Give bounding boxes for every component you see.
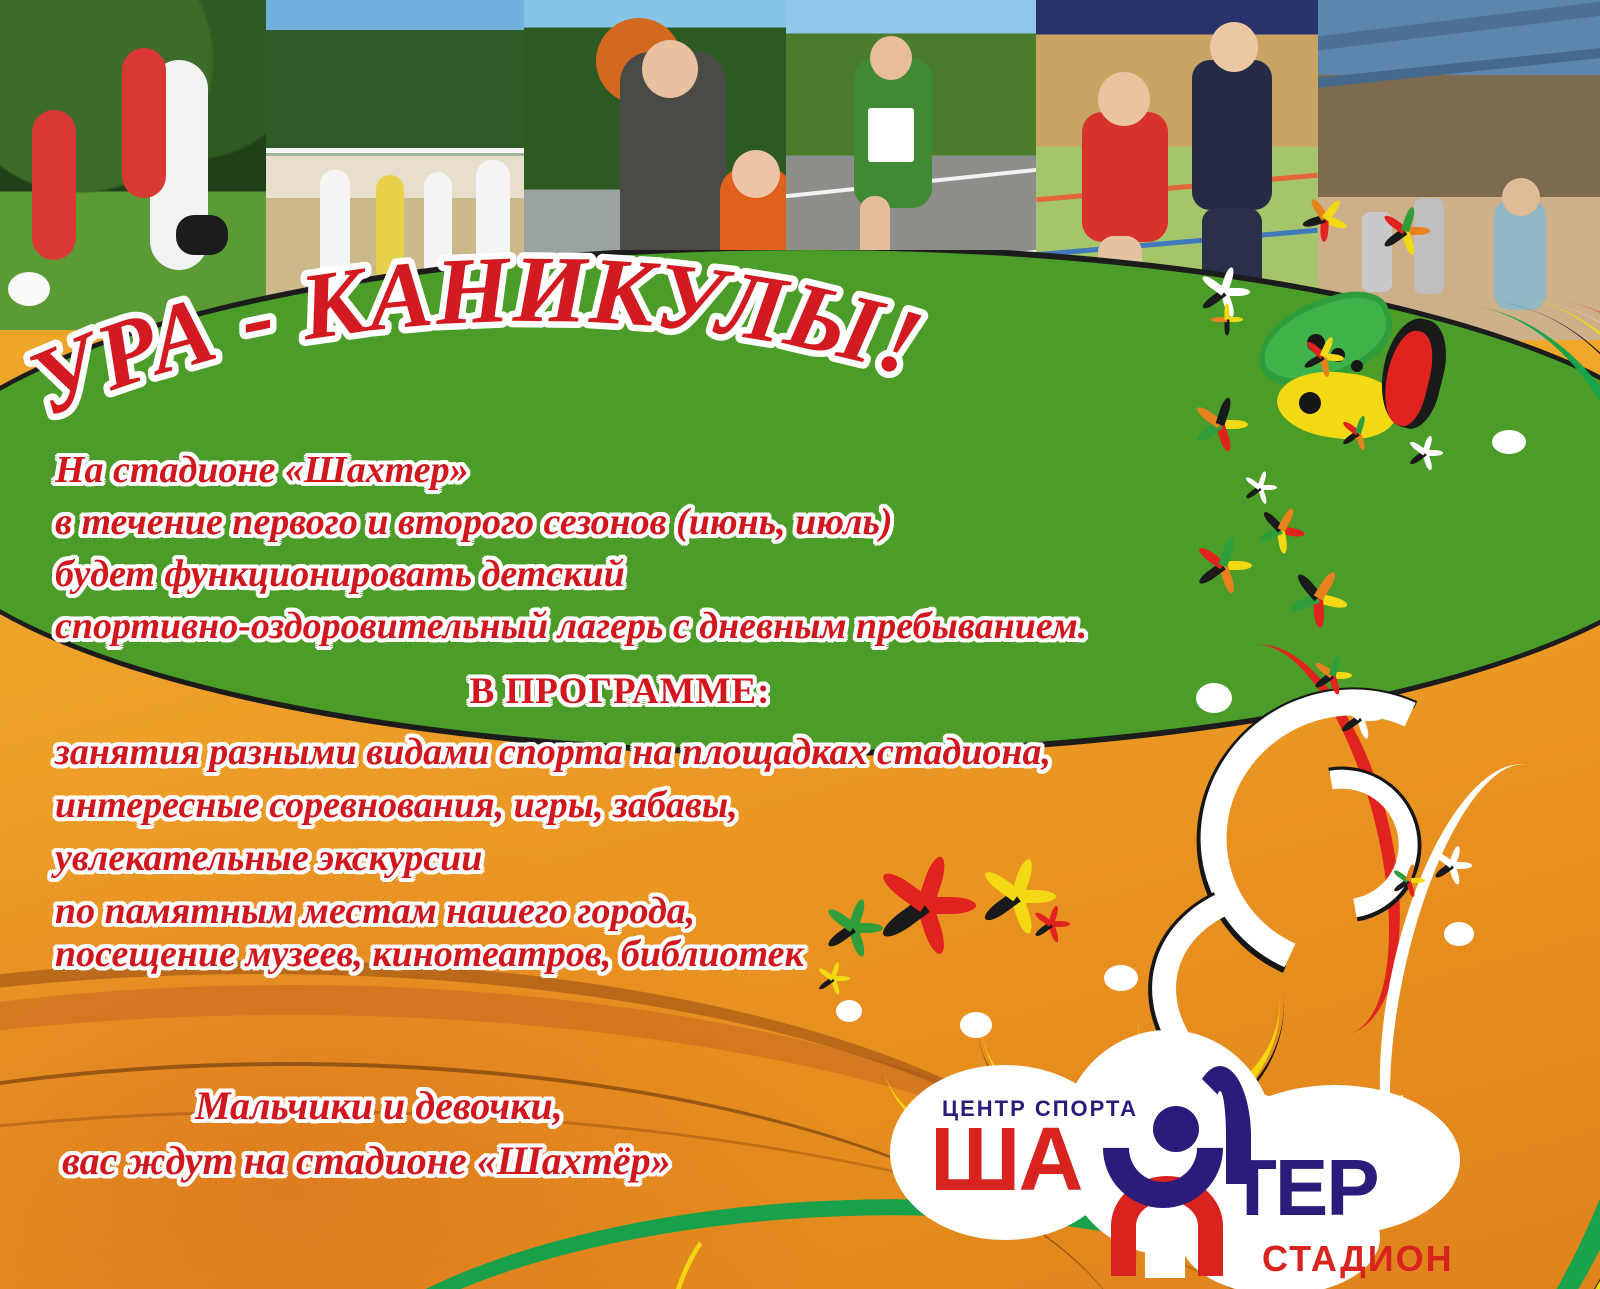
logo-subtitle: СТАДИОН (1262, 1238, 1454, 1280)
flower-icon (1300, 190, 1350, 240)
flower-icon (870, 842, 980, 952)
flower-icon (1336, 690, 1384, 738)
photo-gym: тренажерный зал (1318, 0, 1600, 340)
program-line-2: интересные соревнования, игры, забавы, (55, 783, 738, 827)
flower-icon (1255, 500, 1307, 552)
swirl-dot-2 (1196, 683, 1232, 713)
logo-name-ter: ТЕР (1228, 1150, 1378, 1226)
flower-icon (1192, 530, 1254, 592)
flower-icon (1338, 410, 1378, 450)
flower-icon (1210, 300, 1244, 334)
poster-canvas: футбол пляжный волейбол баскетбол легкая (0, 0, 1600, 1289)
flower-icon (1300, 330, 1346, 376)
intro-line-3: будет функционировать детский (55, 552, 625, 596)
swirl-dot-4 (1104, 965, 1138, 991)
flower-icon (1030, 900, 1072, 942)
flower-icon (1405, 430, 1445, 470)
flower-icon (1378, 200, 1432, 254)
closing-line-1: Мальчики и девочки, (195, 1082, 563, 1129)
flower-icon (815, 958, 851, 994)
intro-line-1: На стадионе «Шахтер» (55, 448, 469, 492)
intro-line-4: спортивно-оздоровительный лагерь с дневн… (55, 604, 1087, 648)
swirl-dot-1 (1492, 430, 1526, 454)
logo-name-sha: ША (930, 1118, 1081, 1204)
program-line-1: занятия разными видами спорта на площадк… (55, 730, 1051, 774)
flower-icon (1285, 560, 1351, 626)
flower-icon (1430, 840, 1474, 884)
swirl-dot-6 (836, 1000, 862, 1022)
flower-icon (820, 890, 886, 956)
program-line-4: по памятным местам нашего города, (55, 889, 695, 933)
stadium-logo[interactable]: ЦЕНТР СПОРТА ША ТЕР СТАДИОН (880, 1030, 1500, 1280)
butterfly-icon (1255, 300, 1485, 500)
flower-icon (1390, 860, 1426, 896)
closing-line-2: вас ждут на стадионе «Шахтёр» (62, 1137, 671, 1184)
flower-icon (1190, 390, 1250, 450)
swirl-dot-3 (1444, 922, 1474, 946)
flower-icon (1310, 650, 1354, 694)
flower-icon (1242, 467, 1278, 503)
program-heading: В ПРОГРАММЕ: (0, 670, 1240, 713)
poster-title: УРА - КАНИКУЛЫ! УРА - КАНИКУЛЫ! (0, 292, 1100, 442)
program-line-3: увлекательные экскурсии (55, 836, 482, 880)
program-line-5: посещение музеев, кинотеатров, библиотек (55, 932, 804, 976)
intro-line-2: в течение первого и второго сезонов (июн… (55, 500, 893, 544)
